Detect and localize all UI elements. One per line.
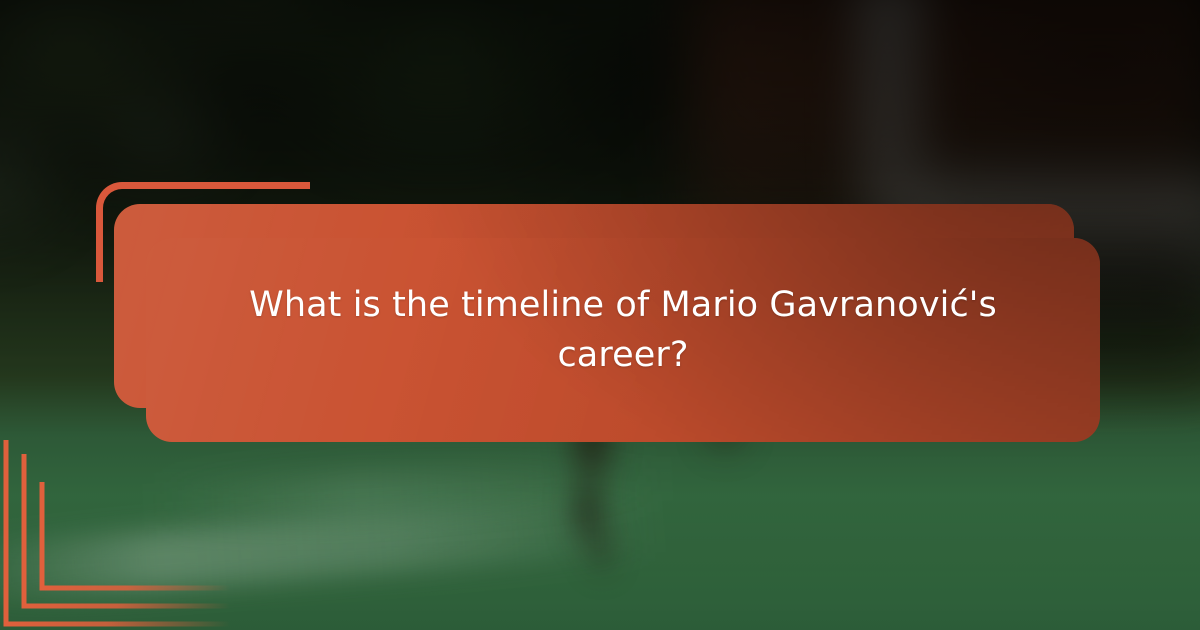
- promo-card-canvas: What is the timeline of Mario Gavranović…: [0, 0, 1200, 630]
- card-panel-front: What is the timeline of Mario Gavranović…: [146, 238, 1100, 442]
- card-title: What is the timeline of Mario Gavranović…: [146, 280, 1100, 380]
